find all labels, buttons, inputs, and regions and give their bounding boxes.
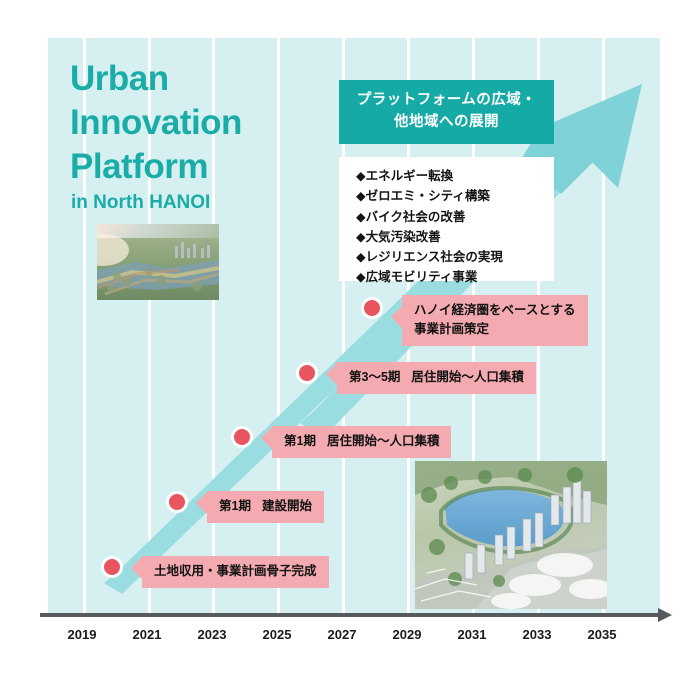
milestone-dot bbox=[231, 426, 253, 448]
page-subtitle: in North HANOI bbox=[71, 192, 210, 214]
title-line-1: Urban bbox=[70, 57, 242, 101]
list-item: ◆大気汚染改善 bbox=[356, 227, 554, 247]
page-title: Urban Innovation Platform bbox=[70, 57, 242, 188]
milestone-label: 土地収用・事業計画骨子完成 bbox=[142, 556, 329, 588]
axis-year-label: 2021 bbox=[117, 627, 177, 642]
milestone-pointer-icon bbox=[326, 363, 337, 385]
callout-heading-line-1: プラットフォームの広域・ bbox=[345, 89, 548, 111]
milestone-text: 建設開始 bbox=[262, 499, 312, 513]
callout-heading: プラットフォームの広域・ 他地域への展開 bbox=[339, 80, 554, 144]
axis-year-label: 2027 bbox=[312, 627, 372, 642]
milestone-label: 第3〜5期居住開始〜人口集積 bbox=[337, 362, 536, 394]
milestone-text-2: 事業計画策定 bbox=[414, 320, 576, 339]
milestone-text: ハノイ経済圏をベースとする bbox=[414, 301, 576, 320]
timeline-axis bbox=[40, 613, 662, 617]
milestone-text: 居住開始〜人口集積 bbox=[327, 434, 440, 448]
milestone-label: 第1期建設開始 bbox=[207, 491, 324, 523]
lakeside-development-photo bbox=[415, 461, 607, 609]
milestone-pointer-icon bbox=[391, 306, 402, 328]
milestone-pointer-icon bbox=[131, 557, 142, 579]
milestone-pointer-icon bbox=[196, 492, 207, 514]
milestone-dot bbox=[101, 556, 123, 578]
list-item: ◆レジリエンス社会の実現 bbox=[356, 247, 554, 267]
milestone-dot bbox=[296, 362, 318, 384]
list-item: ◆ゼロエミ・シティ構築 bbox=[356, 186, 554, 206]
axis-year-label: 2019 bbox=[52, 627, 112, 642]
milestone-text: 土地収用・事業計画骨子完成 bbox=[154, 564, 317, 578]
list-item: ◆広域モビリティ事業 bbox=[356, 267, 554, 287]
milestone-text: 居住開始〜人口集積 bbox=[411, 370, 524, 384]
milestone-label: 第1期居住開始〜人口集積 bbox=[272, 426, 451, 458]
milestone-pointer-icon bbox=[261, 427, 272, 449]
title-line-2: Innovation bbox=[70, 101, 242, 145]
slide-canvas: Urban Innovation Platform in North HANOI bbox=[0, 0, 692, 692]
title-line-3: Platform bbox=[70, 145, 242, 189]
axis-year-label: 2025 bbox=[247, 627, 307, 642]
axis-year-label: 2031 bbox=[442, 627, 502, 642]
axis-year-label: 2023 bbox=[182, 627, 242, 642]
axis-year-label: 2033 bbox=[507, 627, 567, 642]
axis-year-label: 2029 bbox=[377, 627, 437, 642]
timeline-axis-arrow-icon bbox=[658, 608, 672, 622]
list-item: ◆バイク社会の改善 bbox=[356, 207, 554, 227]
axis-year-label: 2035 bbox=[572, 627, 632, 642]
milestone-label: ハノイ経済圏をベースとする 事業計画策定 bbox=[402, 295, 588, 346]
milestone-phase: 第1期 bbox=[284, 434, 316, 448]
milestone-dot bbox=[166, 491, 188, 513]
milestone-phase: 第3〜5期 bbox=[349, 370, 400, 384]
aerial-city-photo bbox=[97, 224, 219, 300]
list-item: ◆エネルギー転換 bbox=[356, 166, 554, 186]
callout-bullet-list: ◆エネルギー転換 ◆ゼロエミ・シティ構築 ◆バイク社会の改善 ◆大気汚染改善 ◆… bbox=[339, 157, 554, 281]
milestone-dot bbox=[361, 297, 383, 319]
milestone-phase: 第1期 bbox=[219, 499, 251, 513]
callout-heading-line-2: 他地域への展開 bbox=[345, 111, 548, 133]
